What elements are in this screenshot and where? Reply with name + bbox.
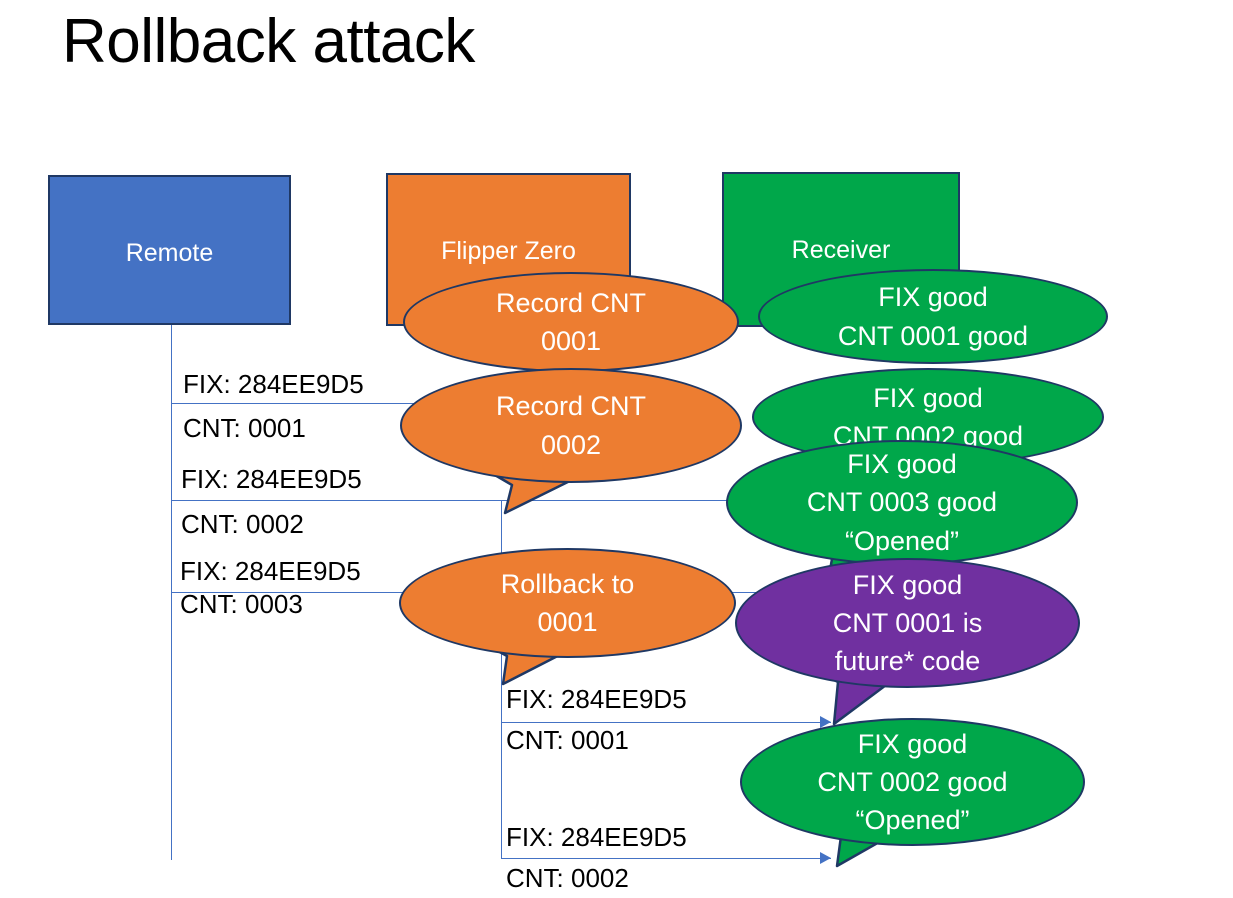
callout-receiver-cnt-0001-good[interactable]: FIX good CNT 0001 good [758, 269, 1108, 364]
callout-receiver-cnt-0003-good-opened[interactable]: FIX good CNT 0003 good “Opened” [726, 440, 1078, 565]
message-5-cnt-label: CNT: 0002 [506, 863, 629, 894]
message-4-cnt-label: CNT: 0001 [506, 725, 629, 756]
message-3-cnt-label: CNT: 0003 [180, 589, 303, 620]
callout-line: FIX good [873, 379, 983, 417]
callout-line: FIX good [878, 278, 988, 316]
callout-line: FIX good [847, 445, 957, 483]
callout-line: CNT 0003 good [807, 483, 997, 521]
page-title: Rollback attack [62, 8, 475, 76]
message-2-fix-label: FIX: 284EE9D5 [181, 464, 362, 495]
callout-rollback-to-0001[interactable]: Rollback to 0001 [399, 548, 736, 658]
actor-label-flipper: Flipper Zero [441, 237, 576, 266]
actor-label-receiver: Receiver [792, 236, 891, 265]
callout-receiver-cnt-0002-good-opened[interactable]: FIX good CNT 0002 good “Opened” [740, 718, 1085, 846]
callout-record-cnt-0002[interactable]: Record CNT 0002 [400, 368, 742, 483]
callout-line: CNT 0001 is [833, 604, 983, 642]
callout-line: FIX good [853, 566, 963, 604]
callout-line: “Opened” [845, 522, 959, 560]
connector-message-2 [171, 500, 741, 501]
callout-line: Record CNT [496, 284, 646, 322]
connector-message-4 [501, 722, 831, 723]
message-3-fix-label: FIX: 284EE9D5 [180, 556, 361, 587]
callout-line: 0001 [541, 322, 601, 360]
callout-line: CNT 0001 good [838, 317, 1028, 355]
callout-line: 0001 [537, 603, 597, 641]
callout-record-cnt-0001[interactable]: Record CNT 0001 [403, 272, 739, 372]
callout-line: CNT 0002 good [817, 763, 1007, 801]
slide-canvas: Rollback attack Remote Flipper Zero Rece… [0, 0, 1233, 898]
actor-box-remote[interactable]: Remote [48, 175, 291, 325]
callout-line: future* code [835, 642, 981, 680]
callout-line: Rollback to [501, 565, 635, 603]
callout-line: 0002 [541, 426, 601, 464]
message-5-fix-label: FIX: 284EE9D5 [506, 822, 687, 853]
connector-message-5 [501, 858, 831, 859]
callout-line: Record CNT [496, 387, 646, 425]
callout-future-code-alert[interactable]: FIX good CNT 0001 is future* code [735, 558, 1080, 688]
message-1-fix-label: FIX: 284EE9D5 [183, 369, 364, 400]
callout-line: “Opened” [855, 801, 969, 839]
callout-line: FIX good [858, 725, 968, 763]
message-1-cnt-label: CNT: 0001 [183, 413, 306, 444]
message-2-cnt-label: CNT: 0002 [181, 509, 304, 540]
actor-label-remote: Remote [126, 239, 214, 268]
